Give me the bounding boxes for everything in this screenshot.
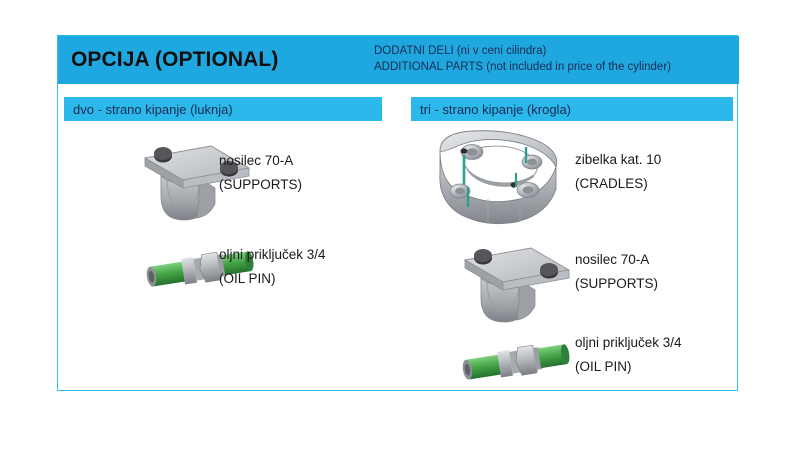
part-name-si: oljni priključek 3/4 bbox=[575, 335, 682, 350]
note-line-si: DODATNI DELI (ni v ceni cilindra) bbox=[374, 43, 671, 59]
cradle-collar-drawing bbox=[428, 129, 568, 234]
part-label-support-bracket: nosilec 70-A (SUPPORTS) bbox=[575, 248, 658, 296]
part-label-oil-pin: oljni priključek 3/4 (OIL PIN) bbox=[219, 243, 326, 291]
part-illustration-support-bracket bbox=[457, 242, 577, 334]
part-name-si: oljni priključek 3/4 bbox=[219, 247, 326, 262]
part-name-si: nosilec 70-A bbox=[219, 153, 293, 168]
part-label-cradle-collar: zibelka kat. 10 (CRADLES) bbox=[575, 148, 661, 196]
screenshot-canvas: OPCIJA (OPTIONAL) DODATNI DELI (ni v cen… bbox=[0, 0, 800, 450]
part-name-en: (CRADLES) bbox=[575, 172, 661, 196]
panel-title-bar: OPCIJA (OPTIONAL) DODATNI DELI (ni v cen… bbox=[58, 36, 739, 84]
support-bracket-drawing bbox=[457, 242, 577, 334]
part-name-en: (SUPPORTS) bbox=[219, 173, 302, 197]
part-illustration-oil-pin bbox=[457, 336, 575, 390]
section-header-label: tri - strano kipanje (krogla) bbox=[420, 102, 571, 117]
part-name-en: (OIL PIN) bbox=[219, 267, 326, 291]
part-name-en: (OIL PIN) bbox=[575, 355, 682, 379]
section-header-three-way-tipping: tri - strano kipanje (krogla) bbox=[411, 97, 733, 121]
part-label-oil-pin: oljni priključek 3/4 (OIL PIN) bbox=[575, 331, 682, 379]
note-line-en: ADDITIONAL PARTS (not included in price … bbox=[374, 59, 671, 75]
part-label-support-bracket: nosilec 70-A (SUPPORTS) bbox=[219, 149, 302, 197]
part-name-en: (SUPPORTS) bbox=[575, 272, 658, 296]
additional-parts-note: DODATNI DELI (ni v ceni cilindra) ADDITI… bbox=[374, 43, 671, 75]
section-header-two-way-tipping: dvo - strano kipanje (luknja) bbox=[64, 97, 382, 121]
part-illustration-cradle-collar bbox=[428, 129, 568, 234]
oil-pin-drawing bbox=[457, 336, 575, 390]
optional-parts-panel: OPCIJA (OPTIONAL) DODATNI DELI (ni v cen… bbox=[57, 35, 738, 391]
page-title: OPCIJA (OPTIONAL) bbox=[71, 48, 278, 72]
section-header-label: dvo - strano kipanje (luknja) bbox=[73, 102, 233, 117]
part-name-si: nosilec 70-A bbox=[575, 252, 649, 267]
part-name-si: zibelka kat. 10 bbox=[575, 152, 661, 167]
